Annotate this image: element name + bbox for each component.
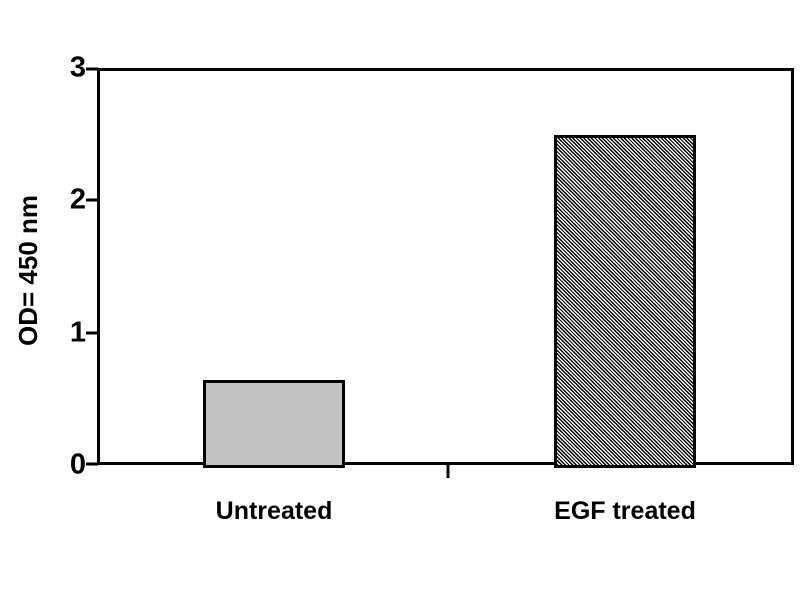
bar-chart: OD= 450 nm 3 2 1 0 Untreated EGF treated [0,0,800,600]
y-tick-label-0: 0 [52,451,86,480]
x-category-label-egf-treated: EGF treated [554,498,696,526]
y-axis-tick-labels: 3 2 1 0 [46,0,86,600]
x-tick-mark-separator [447,465,450,478]
x-category-label-untreated: Untreated [216,498,333,526]
plot-area [97,68,794,465]
y-tick-label-3: 3 [52,54,86,83]
y-axis-title-text: OD= 450 nm [13,194,44,345]
y-tick-label-2: 2 [52,186,86,215]
y-tick-label-1: 1 [52,319,86,348]
